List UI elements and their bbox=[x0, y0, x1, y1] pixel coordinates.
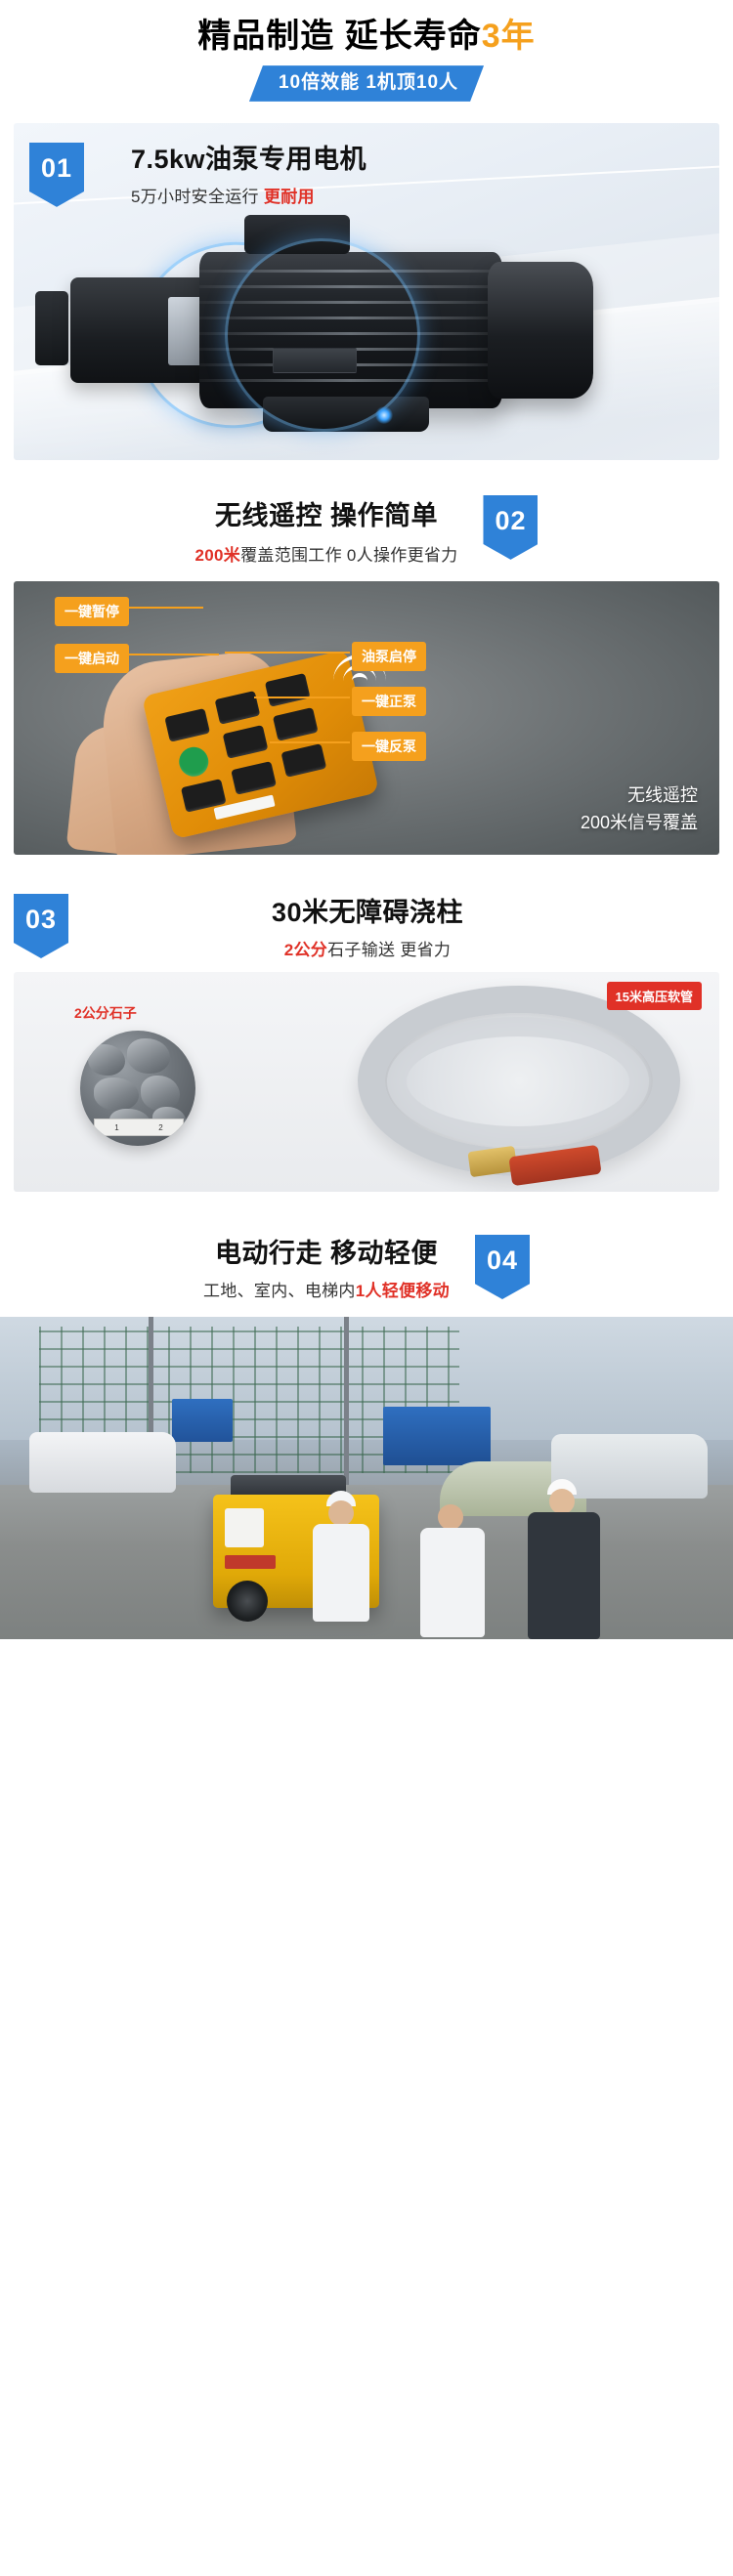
callout-pump-toggle: 油泵启停 bbox=[352, 642, 426, 671]
remote-button[interactable] bbox=[164, 708, 210, 742]
callout-leader bbox=[254, 697, 350, 698]
section-number-badge-01: 01 bbox=[29, 143, 84, 207]
feature-04-sub-plain: 工地、室内、电梯内 bbox=[203, 1282, 356, 1300]
product-detail-page: 精品制造 延长寿命3年 10倍效能 1机顶10人 01 7.5kw油泵专用电机 … bbox=[0, 0, 733, 1639]
callout-reverse-pump: 一键反泵 bbox=[352, 732, 426, 761]
feature-01-sub-plain: 5万小时安全运行 bbox=[131, 188, 264, 206]
feature-04-image bbox=[0, 1317, 733, 1639]
callout-leader bbox=[129, 607, 203, 609]
feature-03-sub-plain: 石子输送 更省力 bbox=[327, 941, 451, 959]
worker-figure bbox=[528, 1512, 600, 1639]
glow-dot-icon bbox=[375, 406, 393, 424]
feature-01-titles: 7.5kw油泵专用电机 5万小时安全运行 更耐用 bbox=[131, 143, 366, 207]
feature-03-subheading: 2公分石子输送 更省力 bbox=[94, 936, 641, 960]
remote-button[interactable] bbox=[231, 761, 277, 795]
stone-sample-photo: 1 2 bbox=[80, 1031, 195, 1146]
worker-head bbox=[549, 1489, 575, 1514]
feature-section-04: 电动行走 移动轻便 工地、室内、电梯内1人轻便移动 04 bbox=[0, 1235, 733, 1639]
feature-04-subheading: 工地、室内、电梯内1人轻便移动 bbox=[203, 1277, 450, 1301]
feature-03-image: 15米高压软管 2公分石子 1 2 bbox=[14, 972, 719, 1192]
feature-04-sub-accent: 1人轻便移动 bbox=[356, 1282, 450, 1300]
ruler-mark: 1 bbox=[114, 1123, 118, 1132]
label-stone-size: 2公分石子 bbox=[74, 1003, 137, 1023]
worker-head bbox=[438, 1504, 463, 1530]
feature-01-sub-accent: 更耐用 bbox=[264, 188, 315, 206]
callout-leader bbox=[129, 654, 219, 655]
header-ribbon-wrap: 10倍效能 1机顶10人 bbox=[0, 65, 733, 102]
callout-forward-pump: 一键正泵 bbox=[352, 687, 426, 716]
page-title-main: 精品制造 延长寿命 bbox=[197, 18, 481, 55]
feature-02-note-line1: 无线遥控 bbox=[581, 782, 698, 810]
feature-02-note: 无线遥控 200米信号覆盖 bbox=[581, 782, 698, 837]
feature-04-titles: 电动行走 移动轻便 工地、室内、电梯内1人轻便移动 bbox=[203, 1235, 450, 1301]
feature-02-sub-plain: 覆盖范围工作 0人操作更省力 bbox=[240, 546, 457, 565]
ruler-scale: 1 2 bbox=[94, 1119, 184, 1136]
worker-figure bbox=[313, 1524, 369, 1622]
machine-warning-label bbox=[225, 1508, 264, 1547]
motor-fan-cover bbox=[488, 262, 593, 399]
page-header: 精品制造 延长寿命3年 10倍效能 1机顶10人 bbox=[0, 0, 733, 102]
callout-leader bbox=[225, 652, 350, 654]
ruler-mark: 2 bbox=[158, 1123, 162, 1132]
remote-button[interactable] bbox=[223, 725, 269, 759]
hose-coil-inner bbox=[387, 1017, 649, 1146]
machine-wheel bbox=[227, 1581, 268, 1622]
feature-03-heading: 30米无障碍浇柱 bbox=[94, 896, 641, 930]
tag-hose-length: 15米高压软管 bbox=[607, 982, 702, 1010]
feature-02-heading: 无线遥控 操作简单 bbox=[195, 499, 458, 533]
feature-03-titles: 30米无障碍浇柱 2公分石子输送 更省力 bbox=[94, 894, 719, 960]
remote-start-button[interactable] bbox=[176, 744, 211, 780]
worker-head bbox=[328, 1500, 354, 1526]
section-number-badge-04: 04 bbox=[475, 1235, 530, 1299]
feature-02-sub-accent: 200米 bbox=[195, 546, 241, 565]
callout-pause: 一键暂停 bbox=[55, 597, 129, 626]
page-title: 精品制造 延长寿命3年 bbox=[0, 18, 733, 56]
callout-start: 一键启动 bbox=[55, 644, 129, 673]
feature-section-01: 01 7.5kw油泵专用电机 5万小时安全运行 更耐用 bbox=[0, 123, 733, 460]
feature-02-subheading: 200米覆盖范围工作 0人操作更省力 bbox=[195, 541, 458, 566]
motor-illustration bbox=[53, 232, 678, 438]
remote-button[interactable] bbox=[265, 673, 311, 707]
page-title-accent: 3年 bbox=[482, 18, 536, 55]
feature-02-titles: 无线遥控 操作简单 200米覆盖范围工作 0人操作更省力 bbox=[195, 495, 458, 566]
feature-02-note-line2: 200米信号覆盖 bbox=[581, 810, 698, 837]
motor-flange bbox=[35, 291, 68, 365]
feature-04-header: 电动行走 移动轻便 工地、室内、电梯内1人轻便移动 04 bbox=[0, 1235, 733, 1301]
feature-04-heading: 电动行走 移动轻便 bbox=[203, 1237, 450, 1271]
remote-button[interactable] bbox=[280, 743, 326, 778]
header-ribbon: 10倍效能 1机顶10人 bbox=[249, 65, 484, 102]
remote-button[interactable] bbox=[273, 707, 319, 741]
parked-van bbox=[29, 1432, 176, 1493]
site-banner bbox=[172, 1399, 233, 1442]
section-number-badge-02: 02 bbox=[483, 495, 538, 560]
callout-leader bbox=[270, 741, 350, 743]
feature-section-03: 03 30米无障碍浇柱 2公分石子输送 更省力 15米高压软管 2公分石子 bbox=[0, 894, 733, 1192]
feature-02-header: 无线遥控 操作简单 200米覆盖范围工作 0人操作更省力 02 bbox=[14, 495, 719, 566]
feature-03-sub-accent: 2公分 bbox=[284, 941, 327, 959]
feature-section-02: 无线遥控 操作简单 200米覆盖范围工作 0人操作更省力 02 bbox=[0, 495, 733, 855]
feature-02-image: 一键暂停 一键启动 油泵启停 一键正泵 一键反泵 无线遥控 200米信号覆盖 bbox=[14, 581, 719, 855]
feature-01-heading: 7.5kw油泵专用电机 bbox=[131, 143, 366, 177]
site-banner bbox=[383, 1407, 491, 1465]
worker-figure bbox=[420, 1528, 485, 1637]
pole bbox=[344, 1317, 349, 1502]
feature-03-header: 03 30米无障碍浇柱 2公分石子输送 更省力 bbox=[14, 894, 719, 960]
feature-01-subheading: 5万小时安全运行 更耐用 bbox=[131, 183, 366, 207]
feature-01-image: 01 7.5kw油泵专用电机 5万小时安全运行 更耐用 bbox=[14, 123, 719, 460]
machine-stripe bbox=[225, 1555, 276, 1569]
section-number-badge-03: 03 bbox=[14, 894, 68, 958]
